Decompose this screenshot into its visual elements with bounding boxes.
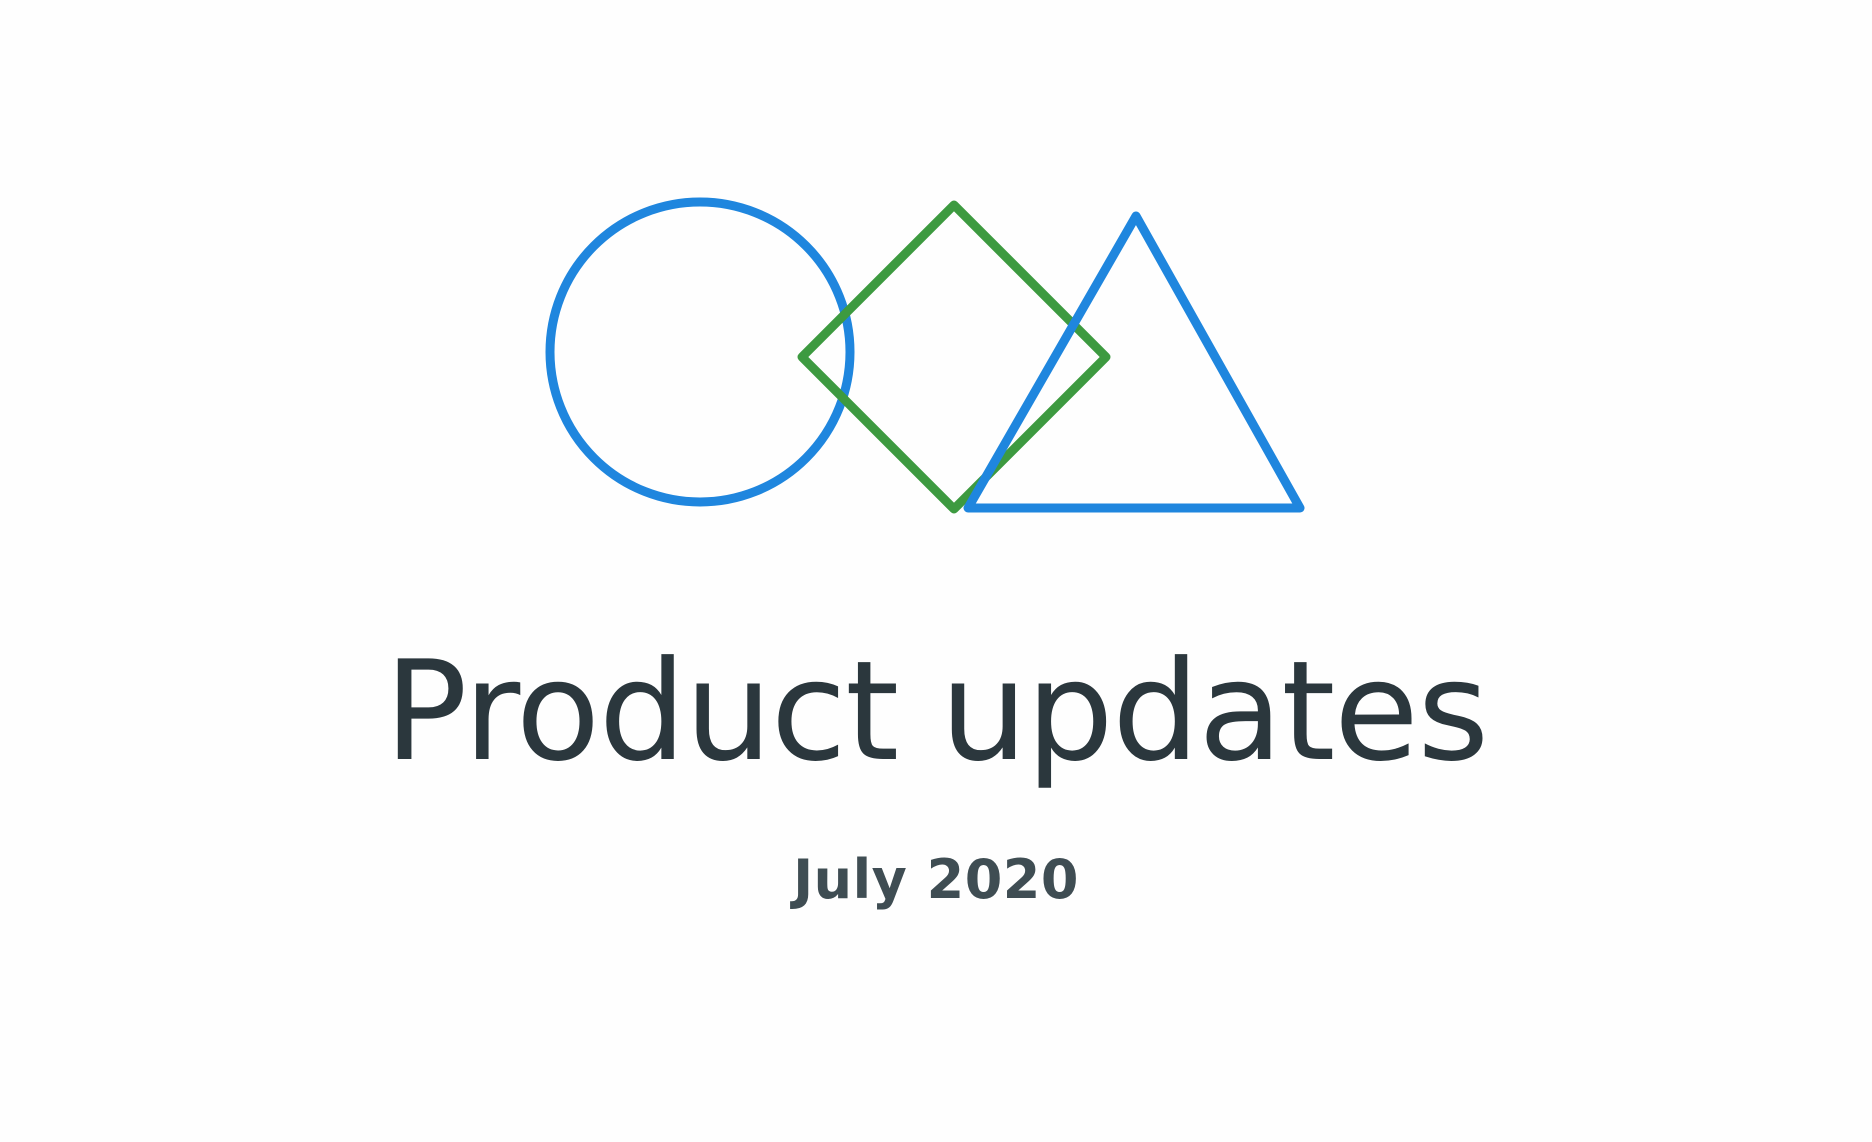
slide-canvas: Product updates July 2020 [0,0,1872,1142]
diamond-outline-icon [802,205,1106,509]
page-subtitle-date: July 2020 [0,850,1872,909]
page-title: Product updates [0,640,1872,784]
circle-outline-icon [550,202,850,502]
triangle-outline-icon [968,216,1300,508]
title-block: Product updates [0,640,1872,784]
hero-graphic [0,0,1872,620]
subtitle-block: July 2020 [0,850,1872,909]
